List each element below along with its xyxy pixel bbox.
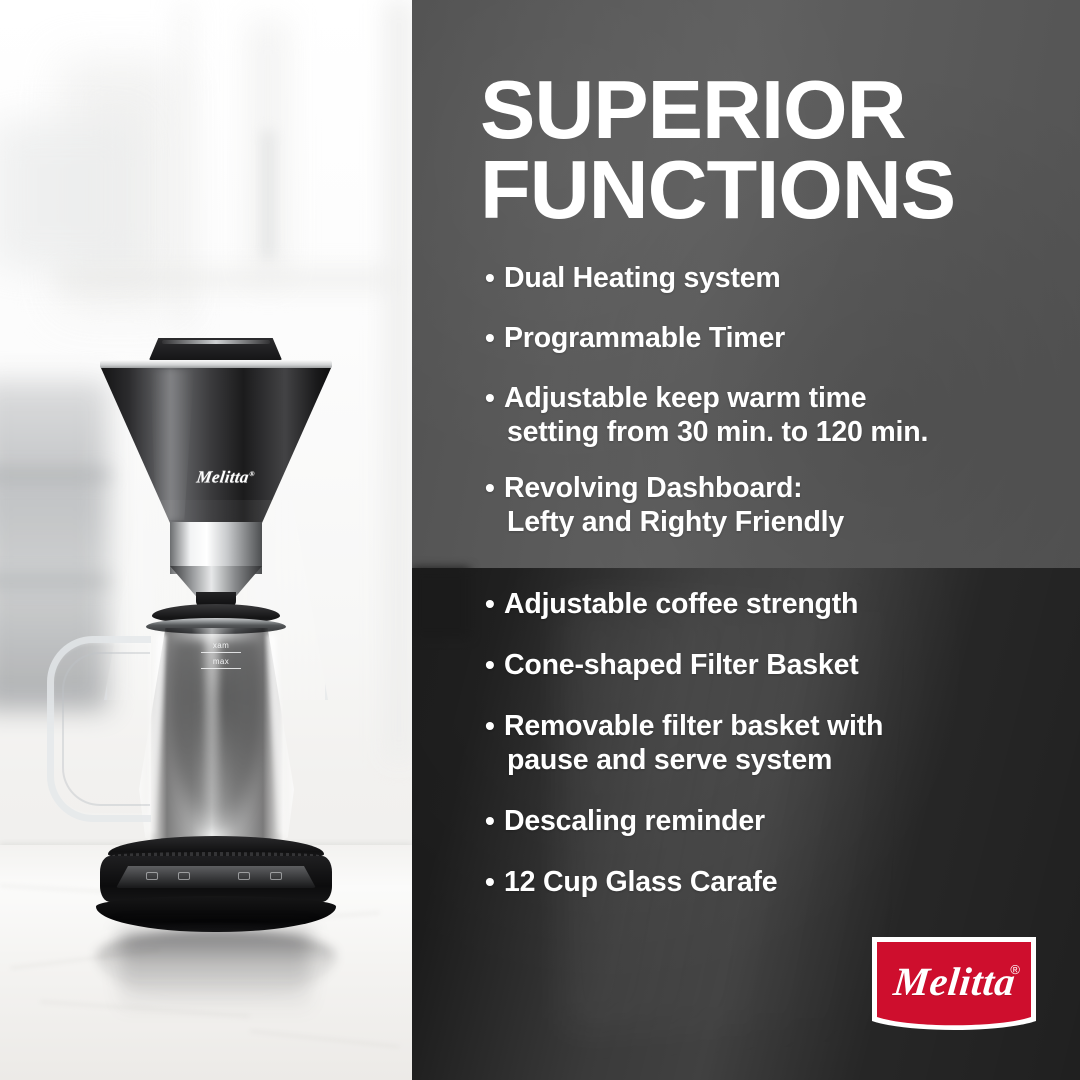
logo-registered-trademark: ® [1010,962,1020,977]
feature-text-line-1: 12 Cup Glass Carafe [504,866,777,898]
logo-wordmark: Melitta [867,932,1041,1031]
feature-list-secondary: Adjustable coffee strength Cone-shaped F… [485,588,1075,926]
feature-text-line-1: Programmable Timer [504,322,785,354]
feature-item: Revolving Dashboard: Lefty and Righty Fr… [485,472,1075,540]
coffee-maker: Melitta® xam max [0,0,412,1080]
feature-text-line-1: Removable filter basket with [504,710,883,742]
feature-text-line-2: Lefty and Righty Friendly [504,506,1075,540]
lid-handle-highlight [162,340,270,344]
feature-text-line-1: Revolving Dashboard: [504,472,802,504]
cone-chrome-rim [100,360,332,369]
carafe-level-mark-upper: xam [199,641,243,650]
feature-text-line-1: Descaling reminder [504,805,765,837]
feature-item: 12 Cup Glass Carafe [485,866,1075,900]
feature-text-line-2: setting from 30 min. to 120 min. [504,416,1075,450]
carafe-level-mark-lower: max [199,657,243,666]
feature-item: Programmable Timer [485,322,1075,356]
product-brand-text: Melitta [195,468,250,487]
product-brand-trademark: ® [249,470,256,478]
cone-filter-housing [101,368,331,523]
feature-item: Cone-shaped Filter Basket [485,649,1075,683]
carafe-handle-inner [62,652,150,806]
feature-item: Adjustable coffee strength [485,588,1075,622]
feature-text-line-1: Cone-shaped Filter Basket [504,649,859,681]
feature-list-primary: Dual Heating system Programmable Timer A… [485,262,1075,561]
feature-text-line-1: Adjustable coffee strength [504,588,858,620]
dashboard-button [238,872,250,880]
countertop-reflection-soft [120,930,310,1050]
base-foot [96,896,336,932]
panel-lower-dark-corner [412,568,470,638]
feature-item: Adjustable keep warm time setting from 3… [485,382,1075,450]
product-photo: Melitta® xam max [0,0,412,1080]
page-title: SUPERIOR FUNCTIONS [480,70,1060,229]
feature-text-line-1: Dual Heating system [504,262,781,294]
carafe-level-line-lower [201,668,241,669]
feature-text-line-2: pause and serve system [504,744,1075,778]
carafe-level-line-upper [201,652,241,653]
promo-canvas: Melitta® xam max [0,0,1080,1080]
melitta-logo: Melitta ® [872,937,1036,1036]
feature-item: Removable filter basket with pause and s… [485,710,1075,778]
product-brand-mark: Melitta® [184,462,267,486]
logo-brand-text: Melitta [891,958,1017,1005]
page-title-line-1: SUPERIOR [480,70,1060,150]
dashboard-button [146,872,158,880]
feature-text-line-1: Adjustable keep warm time [504,382,866,414]
feature-item: Descaling reminder [485,805,1075,839]
feature-item: Dual Heating system [485,262,1075,296]
page-title-line-2: FUNCTIONS [480,150,1060,230]
dashboard-button [270,872,282,880]
features-panel: SUPERIOR FUNCTIONS Dual Heating system P… [412,0,1080,1080]
dashboard-button [178,872,190,880]
